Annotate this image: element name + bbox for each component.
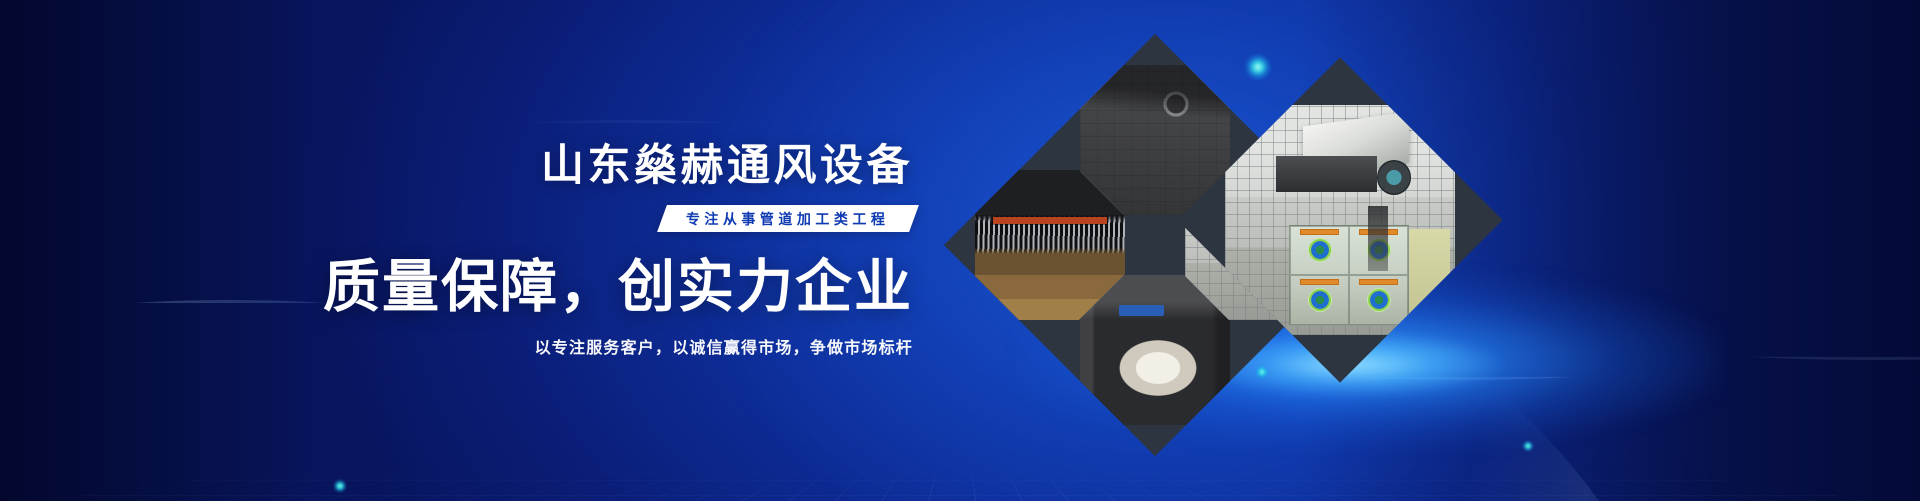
hero-banner: 山东燊赫通风设备 专注从事管道加工类工程 质量保障，创实力企业 以专注服务客户，… <box>0 0 1920 501</box>
cabinet-logo-icon <box>1308 288 1332 312</box>
cabinet-label <box>1359 279 1398 285</box>
cabinet-logo-icon <box>1308 238 1332 262</box>
brand-title: 山东燊赫通风设备 <box>541 145 913 188</box>
plant-grime-shape <box>1368 206 1389 270</box>
headline: 质量保障，创实力企业 <box>323 259 913 316</box>
plant-hood-shape <box>1276 156 1377 193</box>
cabinet-logo-icon <box>1367 288 1391 312</box>
cabinet-label <box>1300 229 1339 235</box>
plant-filter-cabinet <box>1289 225 1409 326</box>
kitchen-ventilation-plant-photo <box>1225 105 1455 335</box>
cabinet-cell <box>1349 275 1408 325</box>
spark-top-icon <box>1245 54 1271 80</box>
tagline-ribbon-text: 专注从事管道加工类工程 <box>686 208 890 228</box>
tagline-ribbon: 专注从事管道加工类工程 <box>657 205 918 232</box>
subline: 以专注服务客户，以诚信赢得市场，争做市场标杆 <box>535 341 913 357</box>
diamond-photo-collage <box>985 30 1465 380</box>
plant-side-panel-shape <box>1409 229 1450 321</box>
spark-far-right-icon <box>1523 441 1533 451</box>
cabinet-label <box>1300 279 1339 285</box>
banner-text-block: 山东燊赫通风设备 专注从事管道加工类工程 质量保障，创实力企业 以专注服务客户，… <box>0 0 935 501</box>
cabinet-cell <box>1290 226 1349 276</box>
plant-fan-icon <box>1377 160 1412 195</box>
cabinet-cell <box>1290 275 1349 325</box>
